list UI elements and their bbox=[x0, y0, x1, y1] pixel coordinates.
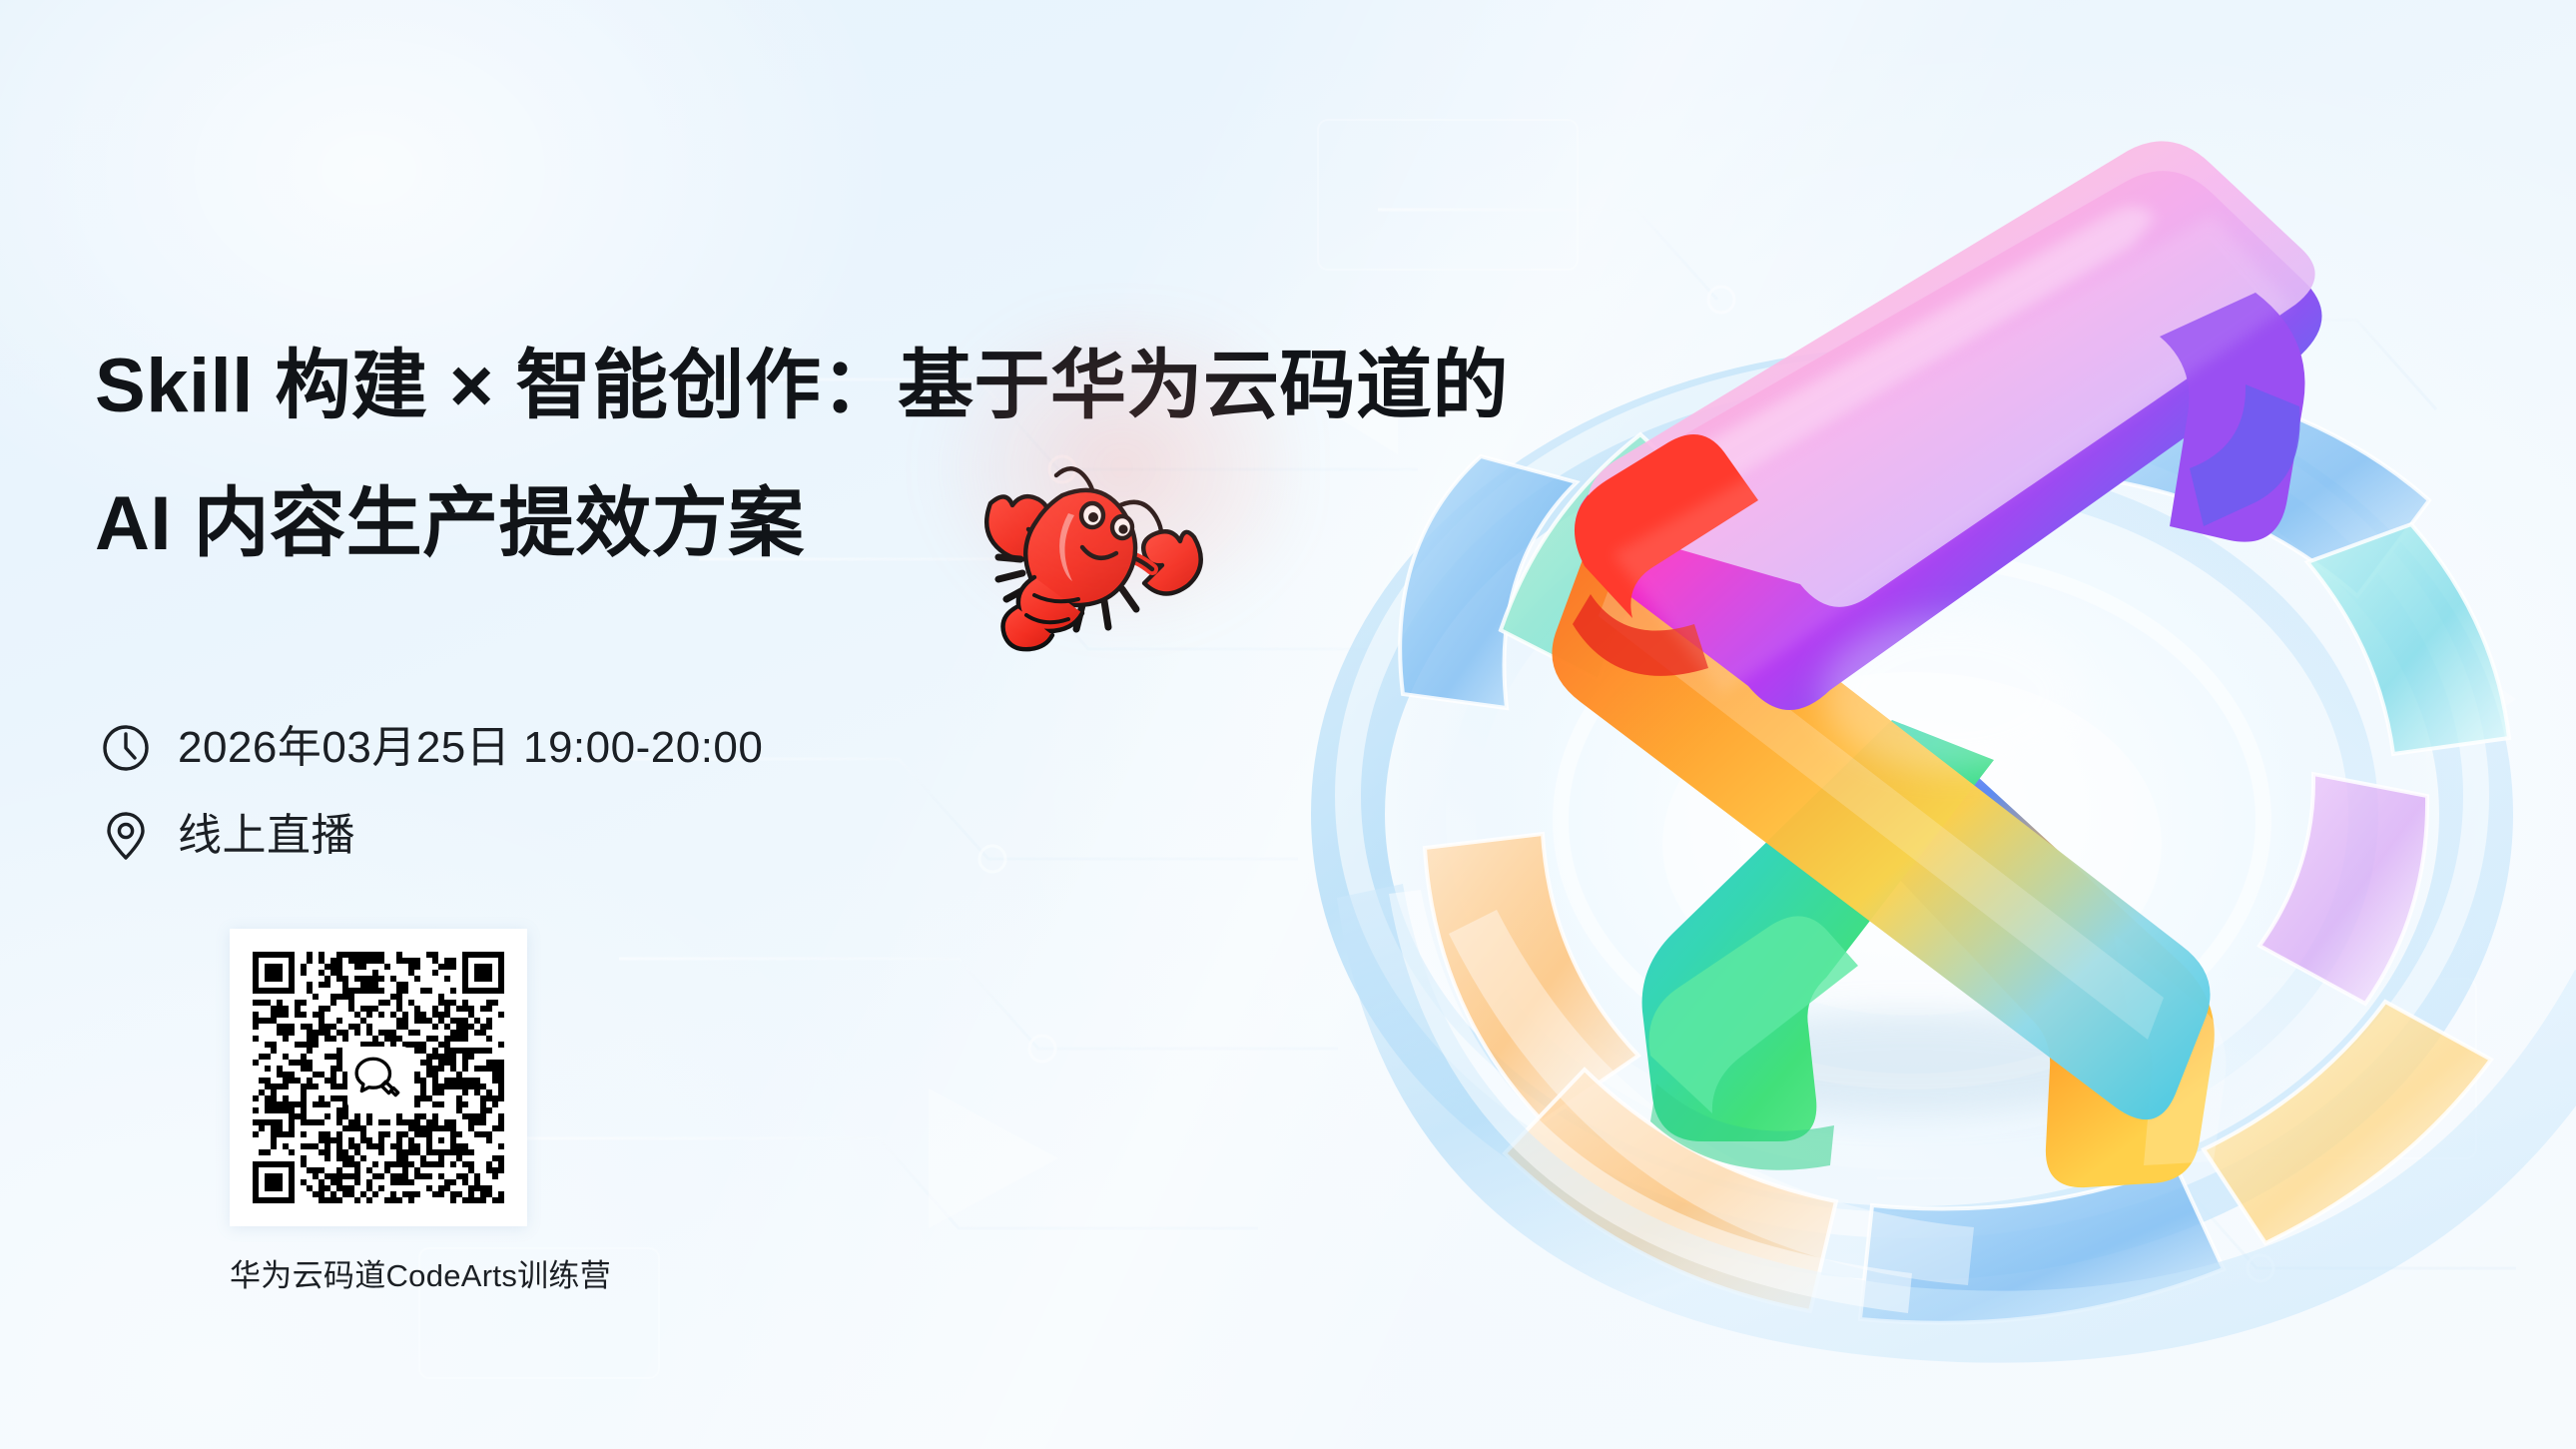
poster-root: Skill 构建 × 智能创作：基于华为云码道的 AI 内容生产提效方案 202… bbox=[0, 0, 2576, 1449]
event-meta: 2026年03月25日 19:00-20:00 线上直播 bbox=[100, 717, 763, 893]
location-pin-icon bbox=[100, 810, 152, 862]
content-column: Skill 构建 × 智能创作：基于华为云码道的 AI 内容生产提效方案 202… bbox=[0, 0, 1258, 1449]
qr-block: 华为云码道CodeArts训练营 bbox=[230, 929, 527, 1226]
clock-icon bbox=[100, 722, 152, 774]
event-datetime-text: 2026年03月25日 19:00-20:00 bbox=[178, 722, 763, 774]
qr-code[interactable] bbox=[230, 929, 527, 1226]
wechat-bubble-icon bbox=[353, 1053, 403, 1102]
event-location-text: 线上直播 bbox=[178, 810, 355, 862]
hero-graphic-3d-ribbon bbox=[1253, 55, 2576, 1393]
event-datetime-row: 2026年03月25日 19:00-20:00 bbox=[100, 717, 763, 779]
lobster-mascot bbox=[965, 429, 1224, 679]
mascot-halo bbox=[925, 310, 1304, 639]
event-location-row: 线上直播 bbox=[100, 805, 763, 867]
qr-center-logo bbox=[347, 1047, 409, 1108]
qr-caption: 华为云码道CodeArts训练营 bbox=[230, 1250, 527, 1295]
